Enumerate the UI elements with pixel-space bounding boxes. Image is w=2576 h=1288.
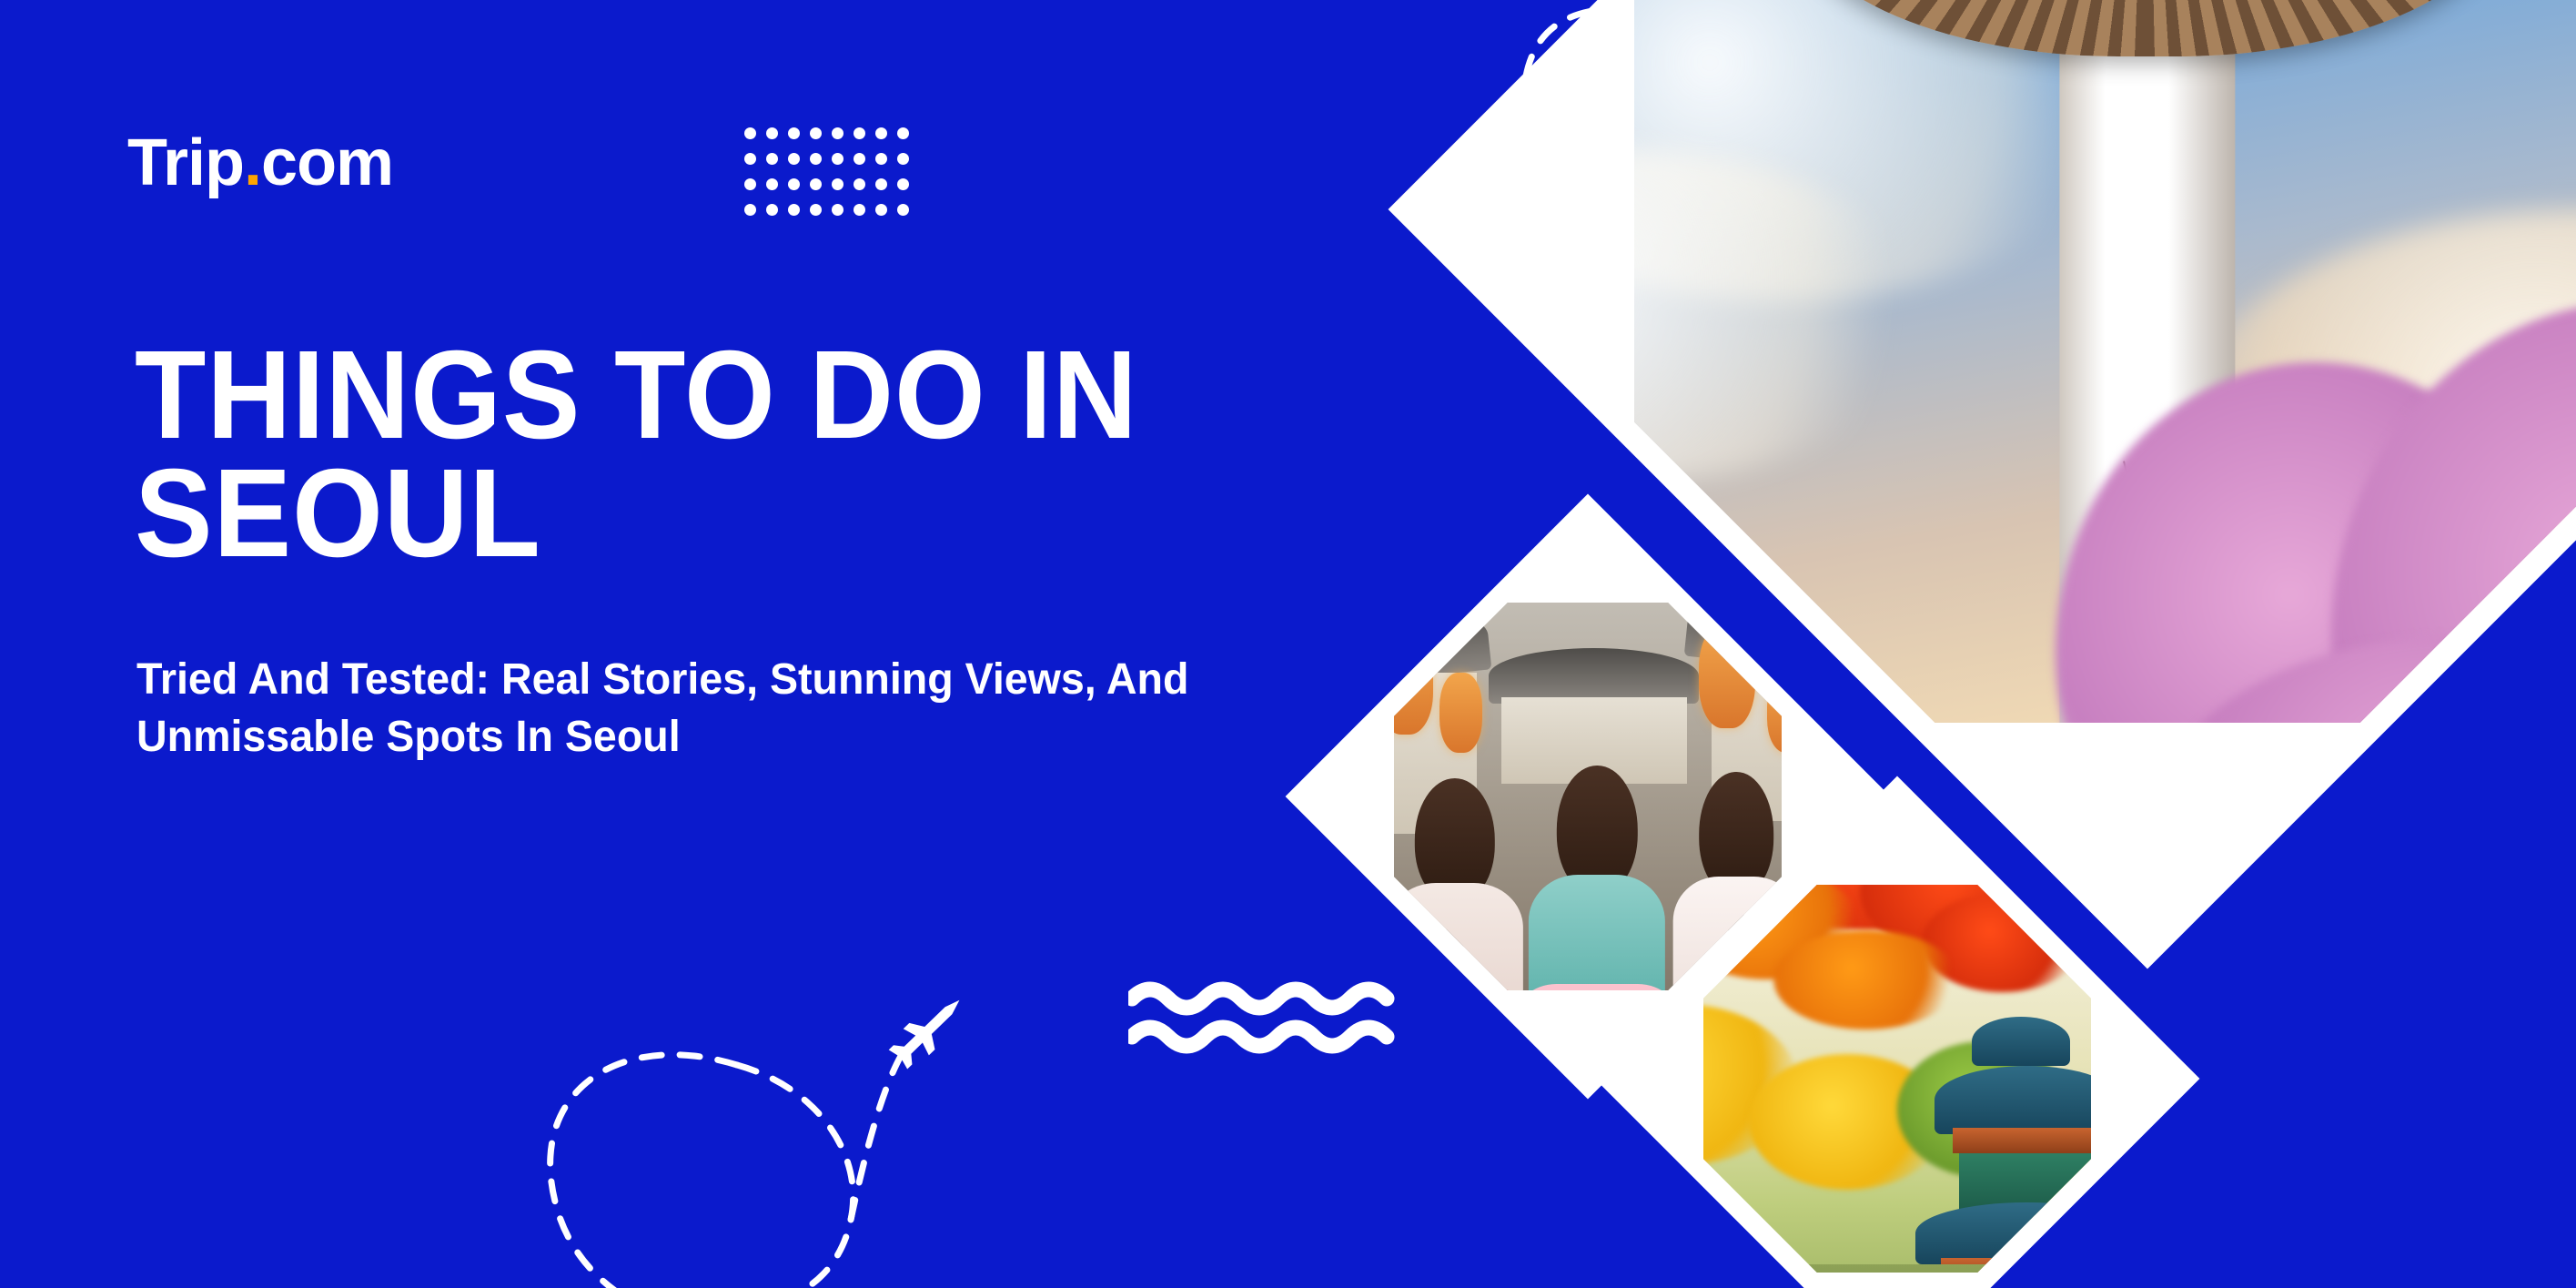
grid-dot: [788, 204, 800, 216]
trip-com-logo[interactable]: Trip.com: [127, 130, 393, 196]
grid-dot: [897, 204, 909, 216]
person-hanbok-red: [1415, 778, 1495, 990]
grid-dot: [766, 153, 778, 165]
logo-text-com: com: [261, 127, 393, 199]
logo-dot: .: [244, 127, 261, 199]
wave-decoration: [1128, 979, 1419, 1060]
grid-dot: [897, 127, 909, 139]
grid-dot: [832, 153, 844, 165]
page-title: Things To Do In Seoul: [135, 337, 1404, 573]
grid-dot: [810, 153, 822, 165]
grid-dot: [875, 178, 887, 190]
gyeongbokgung-autumn-image: [1703, 885, 2091, 1273]
logo-text-trip: Trip: [127, 127, 244, 199]
grid-dot: [854, 127, 865, 139]
hanbok-image: [1394, 603, 1782, 990]
grid-dot: [810, 204, 822, 216]
grid-dot: [854, 178, 865, 190]
grid-dot: [897, 178, 909, 190]
grid-dot: [744, 178, 756, 190]
grid-dot: [832, 204, 844, 216]
page-subtitle: Tried And Tested: Real Stories, Stunning…: [136, 651, 1231, 766]
grid-dot: [788, 178, 800, 190]
grid-dot: [766, 127, 778, 139]
dot-grid-decoration: [744, 127, 919, 229]
grid-dot: [744, 127, 756, 139]
grid-dot: [810, 178, 822, 190]
travel-banner: Trip.com Things To Do In Seoul Tried And…: [0, 0, 2576, 1288]
person-hanbok-pink: [1557, 766, 1637, 990]
grid-dot: [875, 127, 887, 139]
grid-dot: [832, 127, 844, 139]
grid-dot: [875, 204, 887, 216]
grid-dot: [788, 127, 800, 139]
grid-dot: [854, 204, 865, 216]
grid-dot: [810, 127, 822, 139]
grid-dot: [854, 153, 865, 165]
grid-dot: [766, 178, 778, 190]
flight-path-bottom-decoration: [473, 928, 1110, 1288]
grid-dot: [766, 204, 778, 216]
grid-dot: [832, 178, 844, 190]
n-seoul-tower-image: [1634, 0, 2576, 723]
grid-dot: [875, 153, 887, 165]
grid-dot: [744, 153, 756, 165]
grid-dot: [744, 204, 756, 216]
airplane-icon: [885, 987, 973, 1072]
grid-dot: [897, 153, 909, 165]
grid-dot: [788, 153, 800, 165]
photo-collage: [1383, 0, 2576, 1288]
